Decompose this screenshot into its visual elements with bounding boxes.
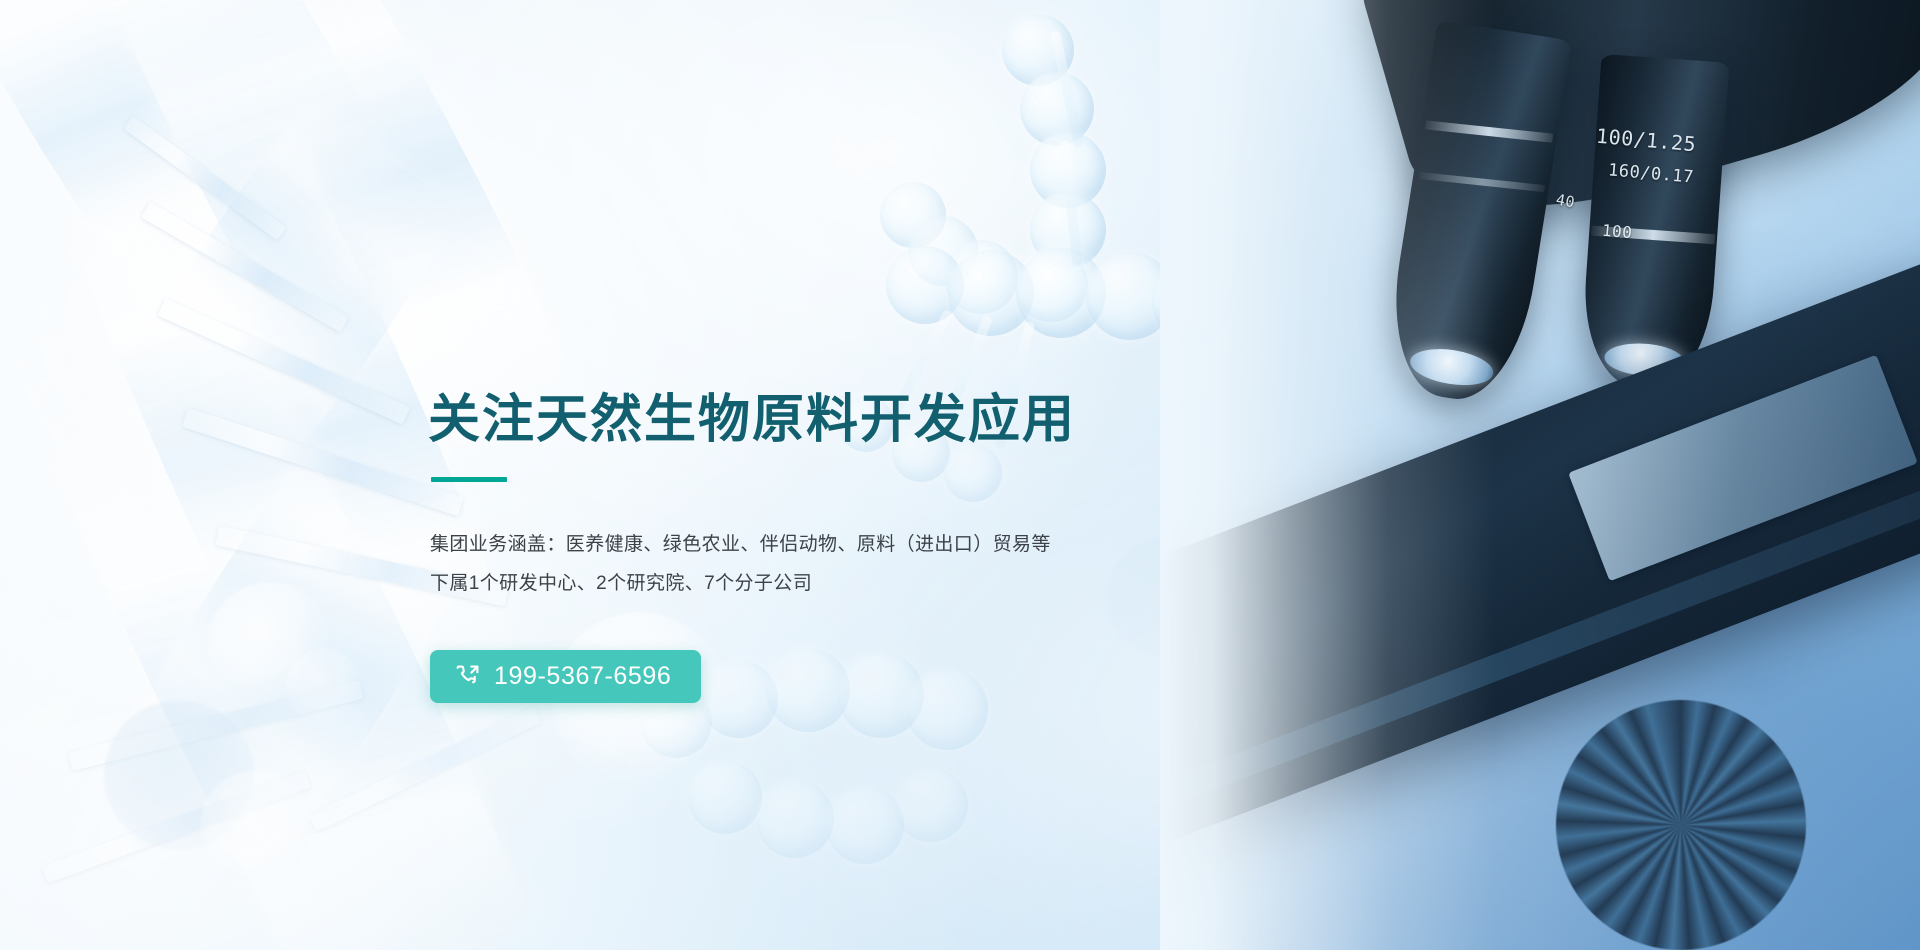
hero-banner: 40 100/1.25 160/0.17 100 关注天然生物原料开发应用 集团… xyxy=(0,0,1920,950)
phone-number-text: 199-5367-6596 xyxy=(494,664,671,689)
hero-content: 关注天然生物原料开发应用 集团业务涵盖：医养健康、绿色农业、伴侣动物、原料（进出… xyxy=(428,392,1248,703)
hero-description-line-1: 集团业务涵盖：医养健康、绿色农业、伴侣动物、原料（进出口）贸易等 xyxy=(430,526,1220,565)
microscope-graphic: 40 100/1.25 160/0.17 100 xyxy=(1160,0,1920,950)
hero-description: 集团业务涵盖：医养健康、绿色农业、伴侣动物、原料（进出口）贸易等 下属1个研发中… xyxy=(430,526,1220,604)
page-title: 关注天然生物原料开发应用 xyxy=(428,392,1248,449)
title-divider xyxy=(431,477,507,482)
hero-description-line-2: 下属1个研发中心、2个研究院、7个分子公司 xyxy=(430,565,1220,604)
phone-forwarded-icon xyxy=(454,663,481,690)
phone-call-button[interactable]: 199-5367-6596 xyxy=(430,650,701,703)
